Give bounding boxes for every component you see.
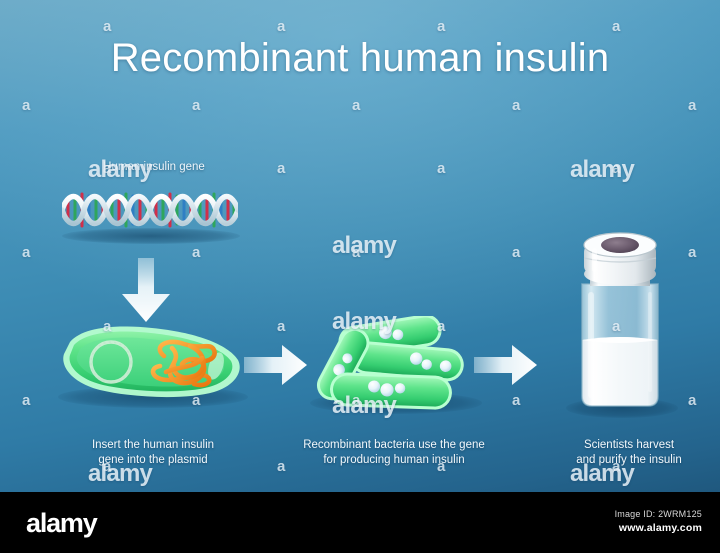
- vial-cap: [584, 233, 656, 285]
- page-title: Recombinant human insulin: [0, 36, 720, 81]
- watermark-a-glyph: a: [512, 97, 520, 114]
- watermark-a-glyph: a: [22, 97, 30, 114]
- arrow-down-icon: [118, 258, 174, 324]
- bacterium-rod: [329, 372, 452, 410]
- watermark-a-glyph: a: [22, 244, 30, 261]
- watermark-alamy-word: alamy: [570, 156, 634, 184]
- watermark-a-glyph: a: [103, 18, 111, 35]
- step-2-caption-line-2: for producing human insulin: [278, 453, 510, 468]
- watermark-a-glyph: a: [688, 392, 696, 409]
- watermark-a-glyph: a: [437, 18, 445, 35]
- watermark-a-glyph: a: [192, 244, 200, 261]
- watermark-a-glyph: a: [277, 318, 285, 335]
- watermark-a-glyph: a: [277, 160, 285, 177]
- step-3-caption-line-1: Scientists harvest: [540, 438, 718, 453]
- footer-meta: Image ID: 2WRM125 www.alamy.com: [615, 508, 702, 535]
- watermark-a-glyph: a: [612, 18, 620, 35]
- watermark-a-glyph: a: [22, 392, 30, 409]
- screenshot-root: Recombinant human insulin Human insulin …: [0, 0, 720, 553]
- step-3-caption-line-2: and purify the insulin: [540, 453, 718, 468]
- alamy-footer-bar: alamy Image ID: 2WRM125 www.alamy.com: [0, 492, 720, 553]
- watermark-a-glyph: a: [192, 97, 200, 114]
- vial-septum: [601, 237, 639, 253]
- insulin-vial-figure: [568, 228, 672, 414]
- bacteria-cluster-figure: [312, 316, 472, 412]
- alamy-logo: alamy: [26, 508, 97, 539]
- watermark-a-glyph: a: [352, 97, 360, 114]
- bacterium-with-plasmid-figure: [56, 322, 246, 400]
- watermark-a-glyph: a: [688, 97, 696, 114]
- gene-label: Human insulin gene: [64, 160, 244, 174]
- watermark-a-glyph: a: [277, 18, 285, 35]
- watermark-a-glyph: a: [612, 160, 620, 177]
- watermark-alamy-word: alamy: [332, 232, 396, 260]
- arrow-right-icon-2: [474, 344, 538, 386]
- watermark-a-glyph: a: [437, 160, 445, 177]
- watermark-a-glyph: a: [688, 244, 696, 261]
- alamy-url-text: www.alamy.com: [615, 521, 702, 535]
- watermark-a-glyph: a: [512, 244, 520, 261]
- illustration-canvas: Recombinant human insulin Human insulin …: [0, 0, 720, 492]
- step-2-caption-line-1: Recombinant bacteria use the gene: [278, 438, 510, 453]
- watermark-a-glyph: a: [512, 392, 520, 409]
- dna-helix-icon: [62, 186, 238, 234]
- step-3-caption: Scientists harvest and purify the insuli…: [540, 438, 718, 468]
- arrow-right-icon-1: [244, 344, 308, 386]
- step-2-caption: Recombinant bacteria use the gene for pr…: [278, 438, 510, 468]
- image-id-text: Image ID: 2WRM125: [615, 508, 702, 521]
- step-1-caption-line-1: Insert the human insulin: [38, 438, 268, 453]
- watermark-a-glyph: a: [352, 244, 360, 261]
- step-1-caption: Insert the human insulin gene into the p…: [38, 438, 268, 468]
- step-1-caption-line-2: gene into the plasmid: [38, 453, 268, 468]
